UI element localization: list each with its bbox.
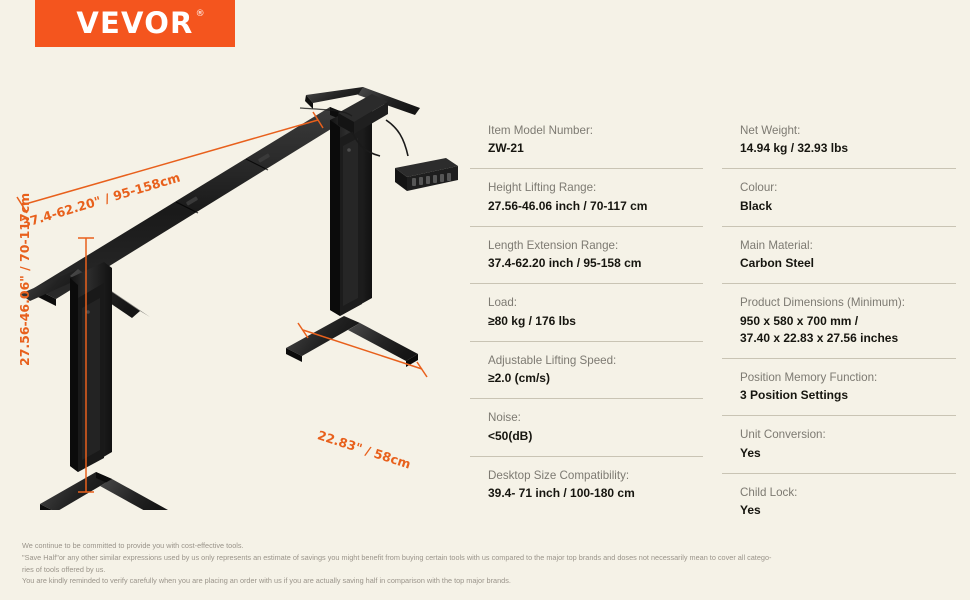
spec-row-body: Colour:Black — [722, 169, 956, 225]
spec-row: Main Material:Carbon Steel — [722, 226, 956, 283]
spec-key: Length Extension Range: — [488, 238, 703, 254]
spec-row-body: Child Lock:Yes — [722, 474, 956, 530]
spec-value-line: 37.4-62.20 inch / 95-158 cm — [488, 255, 703, 272]
spec-row: Load:≥80 kg / 176 lbs — [470, 283, 703, 340]
spec-row-body: Position Memory Function:3 Position Sett… — [722, 359, 956, 415]
spec-value: 37.4-62.20 inch / 95-158 cm — [488, 255, 703, 272]
spec-value-line: ZW-21 — [488, 140, 703, 157]
spec-row: Noise:<50(dB) — [470, 398, 703, 455]
spec-value-line: 37.40 x 22.83 x 27.56 inches — [740, 330, 956, 347]
spec-row-body: Item Model Number:ZW-21 — [470, 112, 703, 168]
brand-wordmark: VEVOR® — [76, 9, 193, 38]
spec-value-line: ≥2.0 (cm/s) — [488, 370, 703, 387]
brand-name-text: VEVOR — [76, 6, 193, 40]
spec-key: Load: — [488, 295, 703, 311]
spec-row-body: Product Dimensions (Minimum):950 x 580 x… — [722, 284, 956, 358]
spec-value: Yes — [740, 445, 956, 462]
desk-frame-illustration — [0, 80, 470, 510]
spec-row-body: Net Weight:14.94 kg / 32.93 lbs — [722, 112, 956, 168]
spec-row-body: Desktop Size Compatibility:39.4- 71 inch… — [470, 457, 703, 513]
spec-row: Net Weight:14.94 kg / 32.93 lbs — [722, 112, 956, 168]
spec-value: Yes — [740, 502, 956, 519]
spec-value-line: 3 Position Settings — [740, 387, 956, 404]
spec-value: 950 x 580 x 700 mm /37.40 x 22.83 x 27.5… — [740, 313, 956, 347]
registered-trademark-icon: ® — [196, 10, 205, 19]
spec-value: ≥80 kg / 176 lbs — [488, 313, 703, 330]
spec-row: Position Memory Function:3 Position Sett… — [722, 358, 956, 415]
spec-key: Desktop Size Compatibility: — [488, 468, 703, 484]
spec-value: Black — [740, 198, 956, 215]
spec-row: Length Extension Range:37.4-62.20 inch /… — [470, 226, 703, 283]
spec-key: Colour: — [740, 180, 956, 196]
spec-value-line: Yes — [740, 502, 956, 519]
spec-row-body: Length Extension Range:37.4-62.20 inch /… — [470, 227, 703, 283]
spec-value-line: ≥80 kg / 176 lbs — [488, 313, 703, 330]
spec-key: Height Lifting Range: — [488, 180, 703, 196]
spec-value: 27.56-46.06 inch / 70-117 cm — [488, 198, 703, 215]
footer-line: "Save Half"or any other similar expressi… — [22, 552, 952, 564]
spec-value-line: 39.4- 71 inch / 100-180 cm — [488, 485, 703, 502]
spec-key: Product Dimensions (Minimum): — [740, 295, 956, 311]
spec-value-line: 950 x 580 x 700 mm / — [740, 313, 956, 330]
spec-row: Colour:Black — [722, 168, 956, 225]
spec-value-line: <50(dB) — [488, 428, 703, 445]
spec-row: Unit Conversion:Yes — [722, 415, 956, 472]
spec-value-line: Yes — [740, 445, 956, 462]
spec-value-line: 14.94 kg / 32.93 lbs — [740, 140, 956, 157]
spec-value-line: 27.56-46.06 inch / 70-117 cm — [488, 198, 703, 215]
footer-disclaimer: We continue to be committed to provide y… — [22, 540, 952, 587]
spec-row: Item Model Number:ZW-21 — [470, 112, 703, 168]
spec-key: Adjustable Lifting Speed: — [488, 353, 703, 369]
spec-value-line: Black — [740, 198, 956, 215]
footer-line: ries of tools offered by us. — [22, 564, 952, 576]
spec-column-left: Item Model Number:ZW-21Height Lifting Ra… — [470, 112, 713, 530]
spec-row-body: Height Lifting Range:27.56-46.06 inch / … — [470, 169, 703, 225]
spec-key: Child Lock: — [740, 485, 956, 501]
spec-row-body: Unit Conversion:Yes — [722, 416, 956, 472]
product-image: 37.4-62.20" / 95-158cm 27.56-46.06" / 70… — [0, 80, 470, 510]
spec-value-line: Carbon Steel — [740, 255, 956, 272]
spec-value: Carbon Steel — [740, 255, 956, 272]
spec-key: Main Material: — [740, 238, 956, 254]
spec-row-body: Noise:<50(dB) — [470, 399, 703, 455]
spec-row: Child Lock:Yes — [722, 473, 956, 530]
spec-key: Unit Conversion: — [740, 427, 956, 443]
specification-table: Item Model Number:ZW-21Height Lifting Ra… — [470, 112, 957, 530]
spec-key: Position Memory Function: — [740, 370, 956, 386]
spec-row: Product Dimensions (Minimum):950 x 580 x… — [722, 283, 956, 358]
spec-row-body: Adjustable Lifting Speed:≥2.0 (cm/s) — [470, 342, 703, 398]
spec-key: Net Weight: — [740, 123, 956, 139]
spec-value: 3 Position Settings — [740, 387, 956, 404]
spec-row: Desktop Size Compatibility:39.4- 71 inch… — [470, 456, 703, 513]
footer-line: You are kindly reminded to verify carefu… — [22, 575, 952, 587]
spec-value: ≥2.0 (cm/s) — [488, 370, 703, 387]
spec-key: Item Model Number: — [488, 123, 703, 139]
spec-column-right: Net Weight:14.94 kg / 32.93 lbsColour:Bl… — [713, 112, 956, 530]
spec-value: ZW-21 — [488, 140, 703, 157]
spec-row-body: Main Material:Carbon Steel — [722, 227, 956, 283]
spec-row: Height Lifting Range:27.56-46.06 inch / … — [470, 168, 703, 225]
control-keypad-icon — [395, 158, 458, 191]
spec-value: 14.94 kg / 32.93 lbs — [740, 140, 956, 157]
brand-logo-banner: VEVOR® — [35, 0, 235, 47]
spec-value: <50(dB) — [488, 428, 703, 445]
footer-line: We continue to be committed to provide y… — [22, 540, 952, 552]
spec-row-body: Load:≥80 kg / 176 lbs — [470, 284, 703, 340]
spec-key: Noise: — [488, 410, 703, 426]
dimension-label-height: 27.56-46.06" / 70-117cm — [17, 193, 32, 366]
spec-value: 39.4- 71 inch / 100-180 cm — [488, 485, 703, 502]
spec-row: Adjustable Lifting Speed:≥2.0 (cm/s) — [470, 341, 703, 398]
